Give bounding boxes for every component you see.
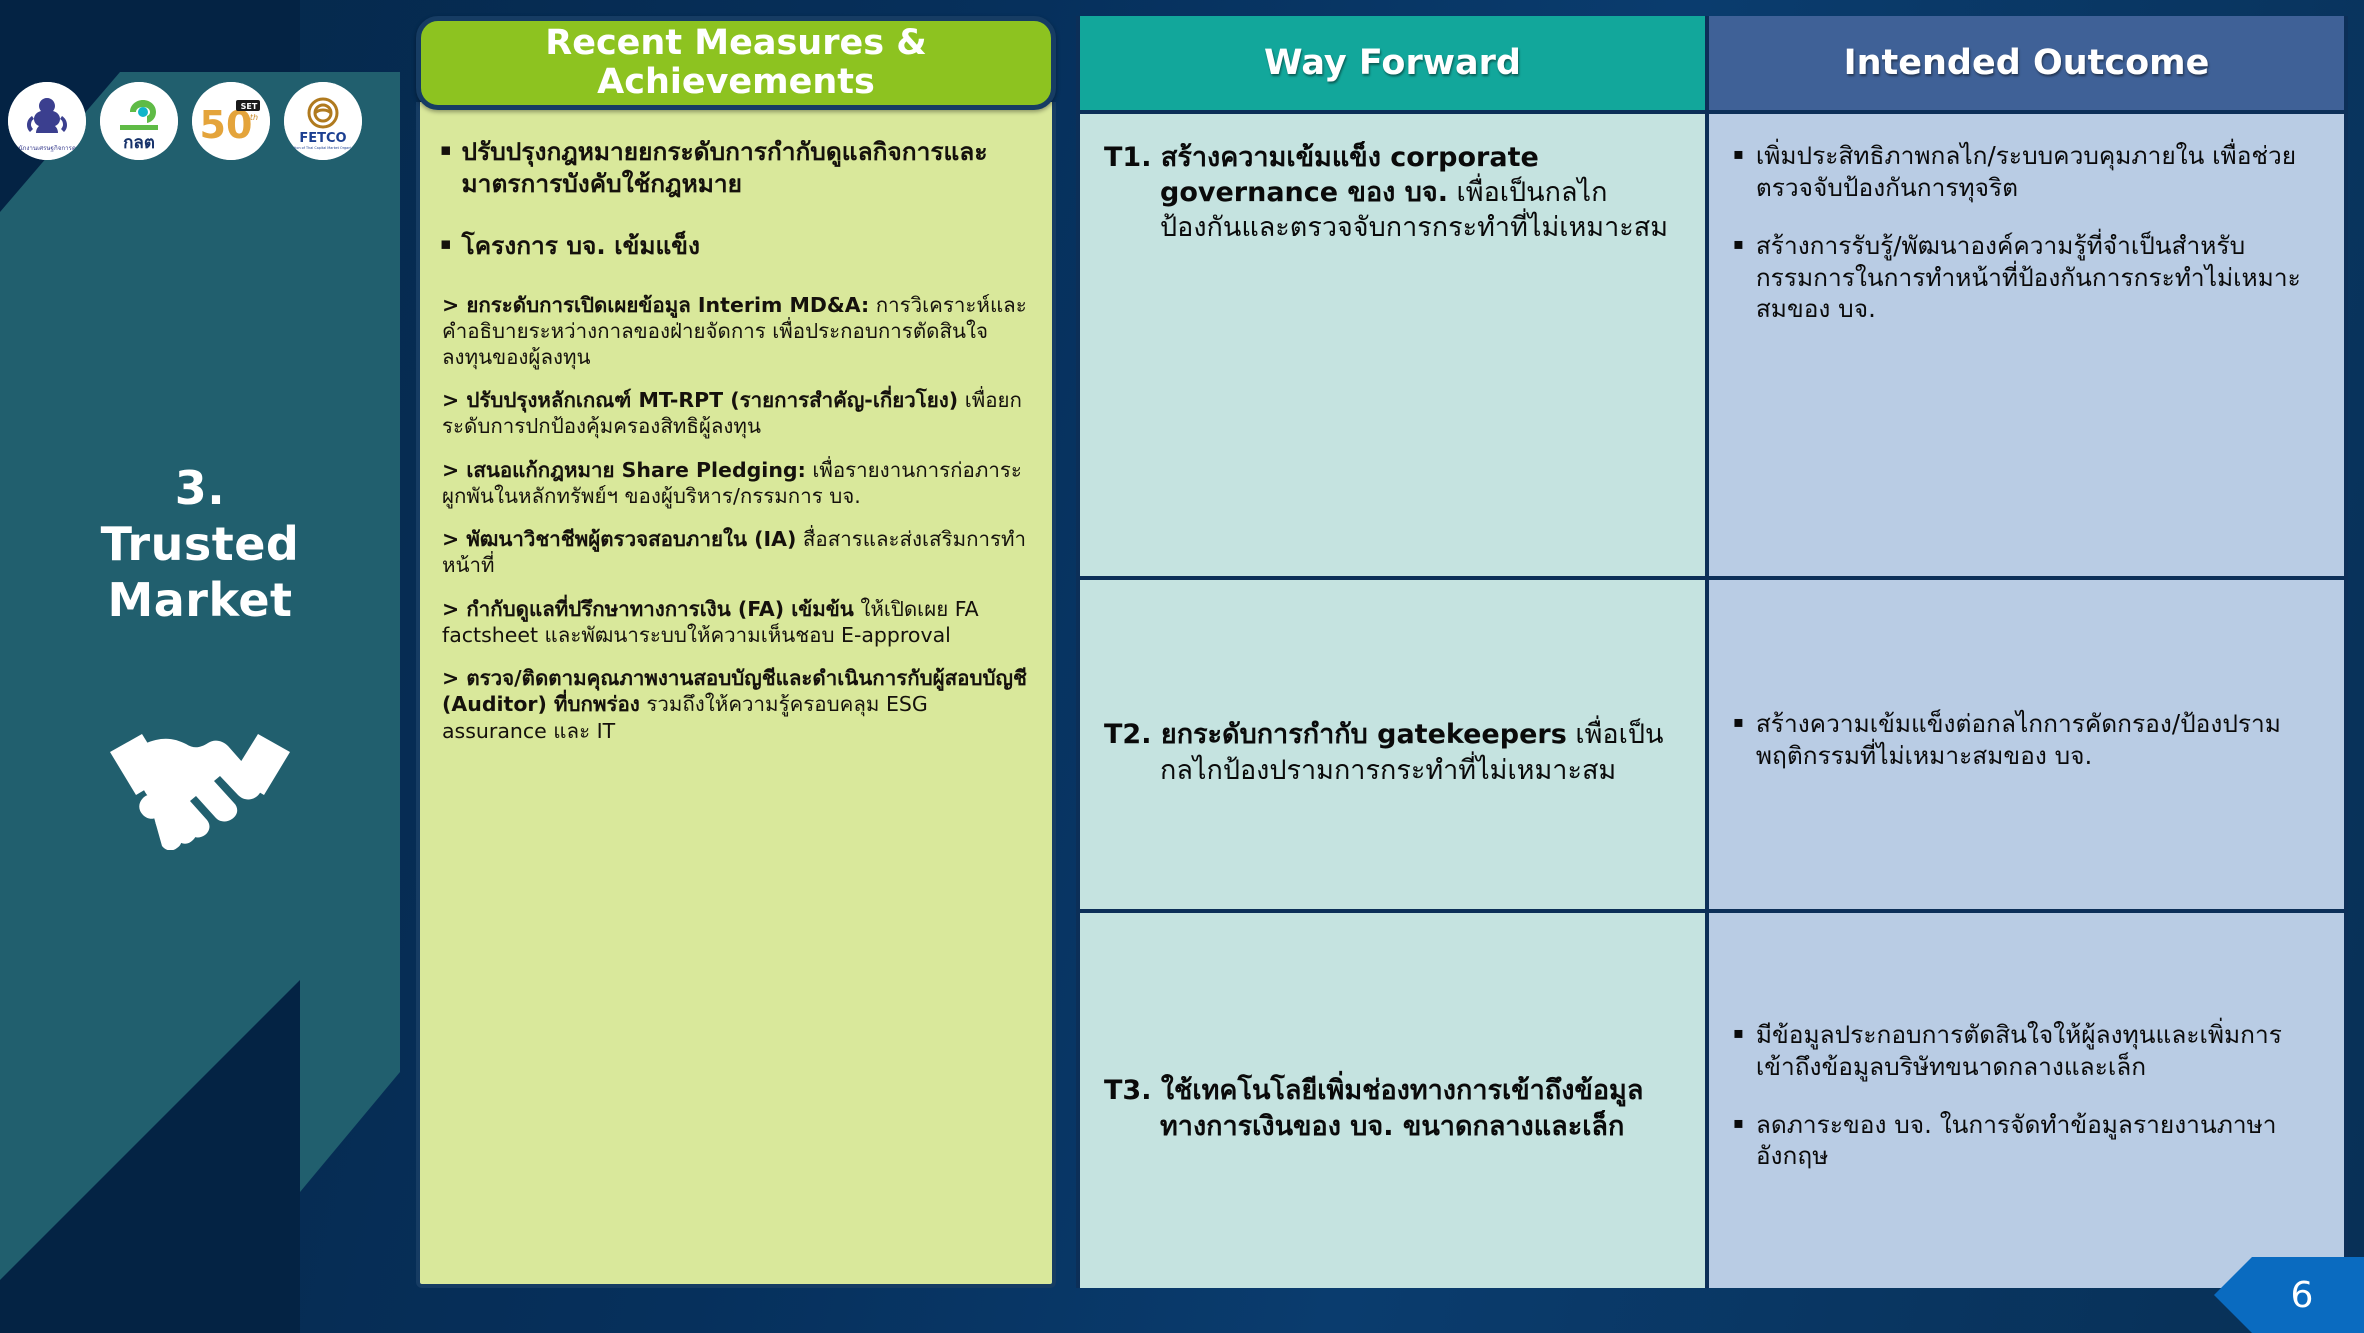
svg-text:สำนักงานเศรษฐกิจการคลัง: สำนักงานเศรษฐกิจการคลัง: [11, 145, 83, 152]
logo-row: สำนักงานเศรษฐกิจการคลัง กลต 50 SET th FE…: [8, 82, 362, 160]
outcome-bullet: ▪มีข้อมูลประกอบการตัดสินใจให้ผู้ลงทุนและ…: [1733, 1019, 2320, 1083]
recent-sub-item-bold: > พัฒนาวิชาชีพผู้ตรวจสอบภายใน (IA): [442, 527, 796, 551]
pillar-title: 3. Trusted Market: [0, 460, 400, 628]
recent-sub-item: > กำกับดูแลที่ปรึกษาทางการเงิน (FA) เข้ม…: [440, 596, 1032, 648]
recent-bullet-text: ปรับปรุงกฎหมายยกระดับการกำกับดูแลกิจการแ…: [462, 136, 1032, 200]
way-forward-bold: ใช้เทคโนโลยีเพิ่มช่องทางการเข้าถึงข้อมูล…: [1151, 1075, 1643, 1141]
svg-text:SET: SET: [241, 102, 258, 111]
outcome-bullet: ▪เพิ่มประสิทธิภาพกลไก/ระบบควบคุมภายใน เพ…: [1733, 140, 2320, 204]
bullet-square-icon: ▪: [1733, 1109, 1744, 1173]
outcome-bullet: ▪ลดภาระของ บจ. ในการจัดทำข้อมูลรายงานภาษ…: [1733, 1109, 2320, 1173]
recent-bullet: ▪ ปรับปรุงกฎหมายยกระดับการกำกับดูแลกิจกา…: [440, 136, 1032, 200]
way-forward-cell: T3. ใช้เทคโนโลยีเพิ่มช่องทางการเข้าถึงข้…: [1080, 913, 1705, 1288]
way-forward-text: T1. สร้างความเข้มแข็ง corporate governan…: [1104, 140, 1681, 245]
way-forward-bold: ยกระดับการกำกับ gatekeepers: [1151, 719, 1566, 750]
recent-sub-item-bold: > กำกับดูแลที่ปรึกษาทางการเงิน (FA) เข้ม…: [442, 597, 854, 621]
svg-text:กลต: กลต: [123, 133, 155, 153]
recent-sub-item-bold: > เสนอแก้กฎหมาย Share Pledging:: [442, 458, 806, 482]
outcome-bullet: ▪สร้างความเข้มแข็งต่อกลไกการคัดกรอง/ป้อง…: [1733, 708, 2320, 772]
way-forward-cell: T2. ยกระดับการกำกับ gatekeepers เพื่อเป็…: [1080, 580, 1705, 909]
set-50th-anniversary-logo: 50 SET th: [192, 82, 270, 160]
bullet-square-icon: ▪: [1733, 1019, 1744, 1083]
pillar-title-line2: Market: [0, 572, 400, 628]
sec-thailand-logo: กลต: [100, 82, 178, 160]
recent-bullet-text: โครงการ บจ. เข้มแข็ง: [462, 230, 700, 262]
outcome-bullet: ▪สร้างการรับรู้/พัฒนาองค์ความรู้ที่จำเป็…: [1733, 230, 2320, 326]
way-forward-text: T2. ยกระดับการกำกับ gatekeepers เพื่อเป็…: [1104, 717, 1681, 787]
intended-outcome-cell: ▪มีข้อมูลประกอบการตัดสินใจให้ผู้ลงทุนและ…: [1709, 913, 2344, 1288]
handshake-icon: [0, 700, 400, 850]
recent-sub-item: > เสนอแก้กฎหมาย Share Pledging: เพื่อราย…: [440, 457, 1032, 509]
bullet-square-icon: ▪: [440, 136, 452, 200]
outcome-bullet-text: ลดภาระของ บจ. ในการจัดทำข้อมูลรายงานภาษา…: [1756, 1109, 2320, 1173]
bullet-square-icon: ▪: [1733, 230, 1744, 326]
recent-sub-item-bold: > ปรับปรุงหลักเกณฑ์ MT-RPT (รายการสำคัญ-…: [442, 388, 958, 412]
pillar-title-line1: Trusted: [0, 516, 400, 572]
outcome-bullet-text: สร้างความเข้มแข็งต่อกลไกการคัดกรอง/ป้องป…: [1756, 708, 2320, 772]
recent-measures-body: ▪ ปรับปรุงกฎหมายยกระดับการกำกับดูแลกิจกา…: [416, 102, 1056, 1288]
way-forward-header: Way Forward: [1080, 16, 1705, 110]
bullet-square-icon: ▪: [1733, 708, 1744, 772]
way-forward-cell: T1. สร้างความเข้มแข็ง corporate governan…: [1080, 114, 1705, 576]
intended-outcome-cell: ▪เพิ่มประสิทธิภาพกลไก/ระบบควบคุมภายใน เพ…: [1709, 114, 2344, 576]
svg-text:Federation of Thai Capital Mar: Federation of Thai Capital Market Organi…: [284, 146, 362, 150]
recent-sub-item: > ตรวจ/ติดตามคุณภาพงานสอบบัญชีและดำเนินก…: [440, 665, 1032, 744]
pillar-number: 3.: [0, 460, 400, 516]
roadmap-table: Way Forward Intended Outcome T1. สร้างคว…: [1076, 16, 2348, 1288]
way-forward-tag: T2.: [1104, 719, 1151, 750]
recent-sub-item: > พัฒนาวิชาชีพผู้ตรวจสอบภายใน (IA) สื่อส…: [440, 526, 1032, 578]
bullet-square-icon: ▪: [1733, 140, 1744, 204]
intended-outcome-cell: ▪สร้างความเข้มแข็งต่อกลไกการคัดกรอง/ป้อง…: [1709, 580, 2344, 909]
outcome-bullet-text: เพิ่มประสิทธิภาพกลไก/ระบบควบคุมภายใน เพื…: [1756, 140, 2320, 204]
recent-bullet: ▪ โครงการ บจ. เข้มแข็ง: [440, 230, 1032, 262]
recent-measures-header: Recent Measures & Achievements: [416, 16, 1056, 110]
fetco-logo: FETCO Federation of Thai Capital Market …: [284, 82, 362, 160]
svg-text:th: th: [250, 113, 258, 122]
svg-text:FETCO: FETCO: [299, 131, 346, 146]
recent-sub-item-bold: > ยกระดับการเปิดเผยข้อมูล Interim MD&A:: [442, 293, 869, 317]
page-number: 6: [2291, 1275, 2314, 1316]
outcome-bullet-text: สร้างการรับรู้/พัฒนาองค์ความรู้ที่จำเป็น…: [1756, 230, 2320, 326]
way-forward-text: T3. ใช้เทคโนโลยีเพิ่มช่องทางการเข้าถึงข้…: [1104, 1073, 1681, 1143]
recent-sub-item: > ยกระดับการเปิดเผยข้อมูล Interim MD&A: …: [440, 292, 1032, 371]
recent-sub-item: > ปรับปรุงหลักเกณฑ์ MT-RPT (รายการสำคัญ-…: [440, 387, 1032, 439]
intended-outcome-header: Intended Outcome: [1709, 16, 2344, 110]
outcome-bullet-text: มีข้อมูลประกอบการตัดสินใจให้ผู้ลงทุนและเ…: [1756, 1019, 2320, 1083]
way-forward-tag: T3.: [1104, 1075, 1151, 1106]
recent-measures-column: Recent Measures & Achievements ▪ ปรับปรุ…: [416, 16, 1056, 1288]
bullet-square-icon: ▪: [440, 230, 452, 262]
office-of-fiscal-economics-logo: สำนักงานเศรษฐกิจการคลัง: [8, 82, 86, 160]
way-forward-tag: T1.: [1104, 142, 1151, 173]
